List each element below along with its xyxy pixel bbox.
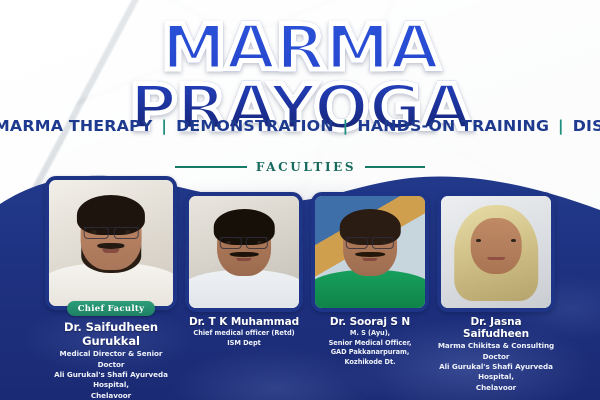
faculty-photo bbox=[185, 192, 303, 312]
faculty-role-line: Marma Chikitsa & Consulting Doctor bbox=[437, 341, 555, 362]
faculties-heading: FACULTIES bbox=[0, 160, 600, 174]
faculty-role-line: GAD Pakkanarpuram, bbox=[329, 348, 412, 358]
faculty-role-line: Kozhikode Dt. bbox=[329, 358, 412, 368]
faculty-card: Dr. T K Muhammad Chief medical officer (… bbox=[185, 192, 303, 348]
portrait-illustration bbox=[441, 196, 551, 308]
subtitle-item-1: DEMONSTRATION bbox=[176, 117, 334, 135]
faculty-role-line: Medical Director & Senior Doctor bbox=[45, 349, 177, 370]
faculties-rule-right bbox=[365, 166, 425, 168]
portrait-illustration bbox=[315, 196, 425, 308]
faculty-card-list: Chief Faculty Dr. Saifudheen Gurukkal Me… bbox=[0, 176, 600, 400]
subtitle-bar: MARMA THERAPY | DEMONSTRATION | HANDS-ON… bbox=[0, 117, 600, 135]
faculty-name: Dr. T K Muhammad bbox=[189, 316, 299, 328]
faculty-card: Dr. Sooraj S N M. S (Ayu), Senior Medica… bbox=[311, 192, 429, 367]
subtitle-separator-0: | bbox=[158, 117, 170, 135]
subtitle-item-0: MARMA THERAPY bbox=[0, 117, 153, 135]
faculties-rule-left bbox=[175, 166, 247, 168]
subtitle-item-2: HANDS-ON TRAINING bbox=[357, 117, 549, 135]
faculty-role-line: Chelavoor bbox=[437, 383, 555, 393]
faculty-card: Dr. Jasna Saifudheen Marma Chikitsa & Co… bbox=[437, 192, 555, 393]
faculty-role-line: Ali Gurukal's Shafi Ayurveda Hospital, bbox=[437, 362, 555, 383]
portrait-illustration bbox=[49, 180, 173, 306]
faculty-role-line: Ali Gurukal's Shafi Ayurveda Hospital, bbox=[45, 370, 177, 391]
subtitle-separator-2: | bbox=[555, 117, 567, 135]
portrait-illustration bbox=[189, 196, 299, 308]
faculty-role-line: M. S (Ayu), bbox=[329, 329, 412, 339]
subtitle-item-3: DISCUSSION bbox=[573, 117, 600, 135]
poster-canvas: MARMA PRAYOGA MARMA THERAPY | DEMONSTRAT… bbox=[0, 0, 600, 400]
faculty-photo bbox=[437, 192, 555, 312]
faculty-roles: Chief medical officer (Retd) ISM Dept bbox=[193, 329, 294, 348]
faculty-name: Dr. Jasna Saifudheen bbox=[437, 316, 555, 340]
faculty-name: Dr. Saifudheen Gurukkal bbox=[45, 320, 177, 348]
faculty-roles: Medical Director & Senior Doctor Ali Gur… bbox=[45, 349, 177, 400]
faculty-roles: M. S (Ayu), Senior Medical Officer, GAD … bbox=[329, 329, 412, 367]
subtitle-separator-1: | bbox=[339, 117, 351, 135]
chief-faculty-badge: Chief Faculty bbox=[67, 301, 156, 316]
faculty-name: Dr. Sooraj S N bbox=[330, 316, 410, 328]
faculty-role-line: Senior Medical Officer, bbox=[329, 339, 412, 349]
faculty-card: Chief Faculty Dr. Saifudheen Gurukkal Me… bbox=[45, 176, 177, 400]
faculty-role-line: Chelavoor bbox=[45, 391, 177, 400]
faculty-role-line: ISM Dept bbox=[193, 339, 294, 349]
faculties-heading-label: FACULTIES bbox=[256, 160, 356, 174]
faculty-photo bbox=[45, 176, 177, 310]
faculty-role-line: Chief medical officer (Retd) bbox=[193, 329, 294, 339]
faculty-photo bbox=[311, 192, 429, 312]
faculty-roles: Marma Chikitsa & Consulting Doctor Ali G… bbox=[437, 341, 555, 393]
